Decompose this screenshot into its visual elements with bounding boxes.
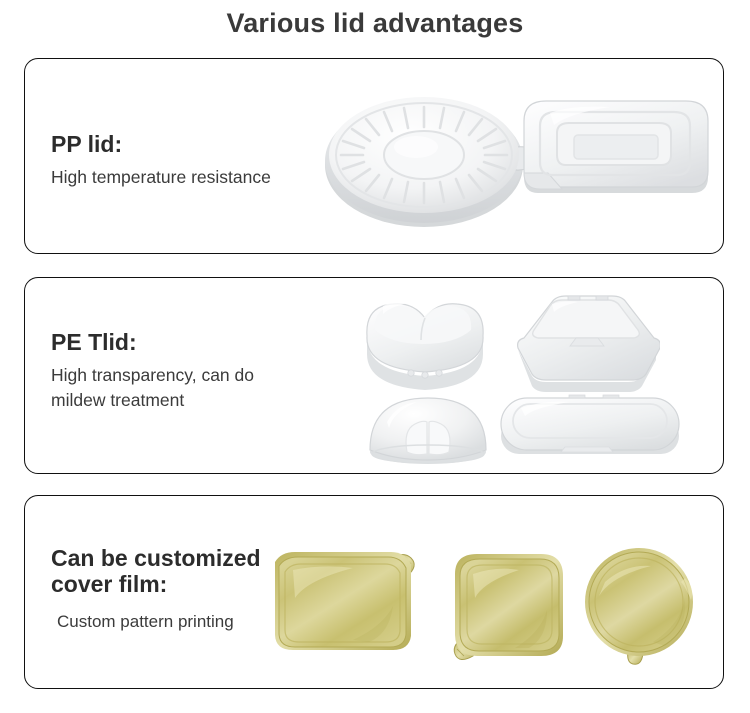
page-title: Various lid advantages	[0, 8, 750, 39]
heart-pet-lid-image	[355, 290, 495, 395]
panel-cover-film: Can be customized cover film: Custom pat…	[24, 495, 724, 689]
round-pp-lid-image	[320, 77, 540, 237]
panel-pet-description: High transparency, can do mildew treatme…	[51, 363, 254, 414]
gold-round-foil-lid-image	[577, 542, 705, 668]
panel-pp-heading: PP lid:	[51, 132, 271, 158]
round-dome-pet-lid-image	[363, 386, 493, 468]
panel-film-heading: Can be customized cover film:	[51, 546, 261, 598]
square-pet-lid-image	[510, 290, 660, 395]
panel-film-text: Can be customized cover film: Custom pat…	[51, 546, 261, 634]
panel-pet-lid: PE Tlid: High transparency, can do milde…	[24, 277, 724, 474]
panel-pp-text: PP lid: High temperature resistance	[51, 132, 271, 190]
gold-rectangular-foil-lid-image	[253, 544, 433, 660]
panel-pet-heading: PE Tlid:	[51, 330, 254, 356]
panel-pp-lid: PP lid: High temperature resistance	[24, 58, 724, 254]
rectangular-pp-lid-image	[508, 83, 723, 228]
oval-pet-lid-image	[495, 390, 685, 468]
panel-pp-description: High temperature resistance	[51, 165, 271, 190]
panel-film-description: Custom pattern printing	[51, 610, 261, 635]
gold-square-foil-lid-image	[445, 544, 575, 666]
panel-pet-text: PE Tlid: High transparency, can do milde…	[51, 330, 254, 414]
